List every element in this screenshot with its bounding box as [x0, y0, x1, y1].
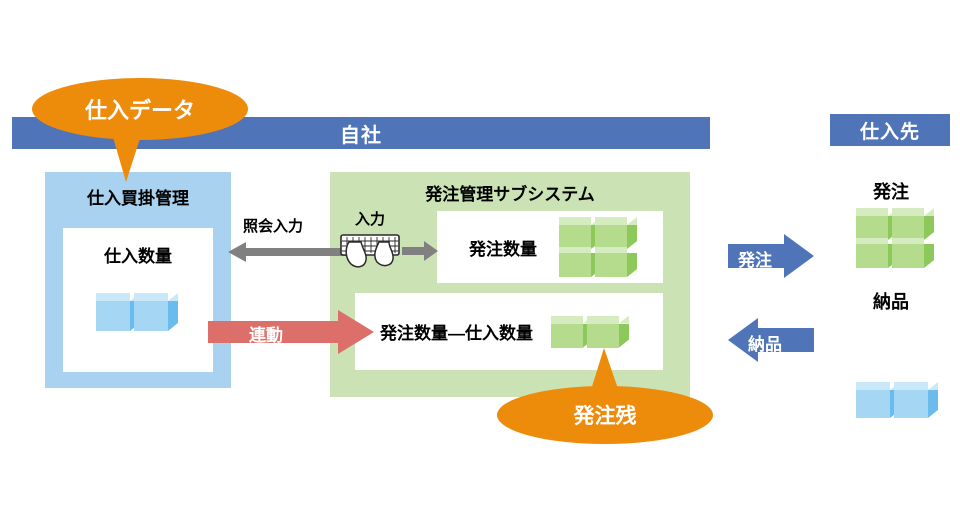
cube-front-face [856, 390, 890, 418]
cube-top-face-fill [134, 293, 168, 301]
cube-side-face [168, 301, 178, 331]
cube-front-face [856, 244, 888, 268]
arrow-order-out-label: 発注 [738, 246, 772, 271]
panel-purchase-title: 仕入買掛管理 [45, 184, 231, 209]
panel-order-subsystem-title: 発注管理サブシステム [330, 180, 690, 205]
cube-side-face [627, 253, 637, 277]
cube-top-face [559, 217, 591, 225]
cube-front-face [96, 301, 130, 331]
cube-front-face [134, 301, 168, 331]
cube-stack-order-quantity [559, 217, 643, 279]
arrow-linkage [208, 310, 374, 354]
cube-side-face [924, 244, 934, 268]
cube-top-face [856, 238, 888, 244]
keyboard-hands-icon [339, 232, 401, 272]
cube-front-face [892, 216, 924, 240]
cube-top-face [856, 382, 890, 390]
cube-top-bevel [627, 217, 637, 225]
cube-stack-supplier-order [856, 208, 940, 272]
cube-stack-supplier-delivery [856, 382, 940, 422]
arrow-input-to-order [402, 240, 438, 262]
cube-top-face [559, 247, 591, 253]
arrow-input-label: 入力 [355, 208, 385, 229]
cube-top-bevel [619, 316, 629, 324]
cube-front-face [587, 324, 619, 348]
callout-order-balance: 発注残 [497, 386, 713, 444]
cube-top-bevel [928, 382, 938, 390]
cube-front-face [894, 390, 928, 418]
cube-top-face [894, 382, 928, 390]
box-purchase-quantity-label: 仕入数量 [104, 242, 172, 267]
cube-top-bevel [168, 293, 178, 301]
cube-side-face [619, 324, 629, 348]
cube-front-face [551, 324, 583, 348]
cube-top-face [595, 247, 627, 253]
cube-front-face [856, 216, 888, 240]
cube-icon [595, 253, 637, 285]
cube-icon [134, 301, 178, 339]
supplier-delivery-label: 納品 [848, 288, 934, 314]
header-bar-supplier-label: 仕入先 [860, 117, 920, 144]
cube-top-face [595, 217, 627, 225]
cube-top-face [892, 208, 924, 216]
arrow-delivery-in-label: 納品 [748, 330, 782, 355]
cube-front-face [595, 253, 627, 277]
cube-stack-purchase-quantity [96, 293, 182, 339]
supplier-order-label: 発注 [848, 178, 934, 204]
arrow-linkage-label: 連動 [249, 321, 283, 346]
cube-side-face [627, 225, 637, 249]
diagram-canvas: 自社 仕入先 仕入買掛管理 仕入数量 [0, 0, 960, 518]
arrow-inquiry-input-label: 照会入力 [243, 215, 303, 236]
cube-front-face [892, 244, 924, 268]
callout-order-balance-label: 発注残 [574, 400, 637, 430]
arrow-inquiry-input [228, 238, 346, 266]
cube-side-face [924, 216, 934, 240]
cube-top-face [892, 238, 924, 244]
panel-purchase-payable: 仕入買掛管理 仕入数量 [45, 172, 231, 388]
panel-order-subsystem: 発注管理サブシステム 発注数量 [330, 172, 690, 397]
box-order-balance-label: 発注数量—仕入数量 [380, 319, 533, 344]
cube-stack-order-balance [551, 316, 635, 350]
header-bar-supplier: 仕入先 [830, 114, 950, 146]
cube-top-face [856, 208, 888, 216]
callout-purchase-data-label: 仕入データ [85, 93, 195, 125]
box-order-quantity: 発注数量 [437, 211, 663, 283]
callout-purchase-data: 仕入データ [32, 78, 248, 140]
cube-top-face [587, 316, 619, 324]
cube-front-face [559, 253, 591, 277]
cube-top-face [551, 316, 583, 324]
cube-front-face [559, 225, 591, 249]
cube-front-face [595, 225, 627, 249]
cube-top-bevel [924, 208, 934, 216]
box-purchase-quantity: 仕入数量 [63, 228, 213, 372]
box-order-quantity-label: 発注数量 [469, 235, 537, 260]
cube-top-face-fill [96, 293, 130, 301]
cube-side-face [928, 390, 938, 418]
cube-icon [892, 244, 934, 276]
header-bar-internal-label: 自社 [340, 119, 382, 148]
cube-icon [894, 390, 938, 428]
